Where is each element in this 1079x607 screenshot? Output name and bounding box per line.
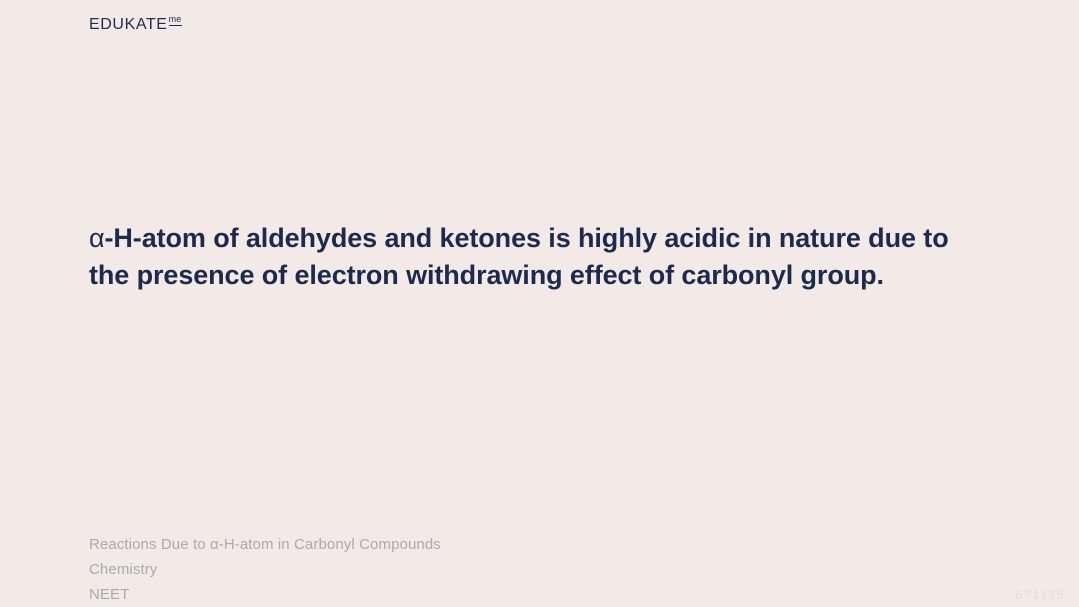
statement-line-1: -H-atom of aldehydes and ketones is high… (105, 223, 916, 253)
brand-suffix: me (169, 15, 182, 26)
footer-exam: NEET (89, 582, 441, 607)
statement-text: α-H-atom of aldehydes and ketones is hig… (89, 220, 979, 294)
statement-alpha-symbol: α (89, 223, 105, 253)
footer-topic: Reactions Due to α-H-atom in Carbonyl Co… (89, 532, 441, 557)
footer-subject: Chemistry (89, 557, 441, 582)
footer-topic-suffix: -H-atom in Carbonyl Compounds (219, 536, 441, 553)
watermark-id: 671135 (1015, 587, 1065, 602)
footer-alpha-symbol: α (210, 536, 219, 553)
brand-logo[interactable]: EDUKATEme (89, 16, 182, 34)
brand-name: EDUKATE (89, 16, 168, 34)
footer-topic-prefix: Reactions Due to (89, 536, 210, 553)
footer-meta: Reactions Due to α-H-atom in Carbonyl Co… (89, 532, 441, 607)
slide-canvas: EDUKATEme α-H-atom of aldehydes and keto… (0, 0, 1079, 607)
